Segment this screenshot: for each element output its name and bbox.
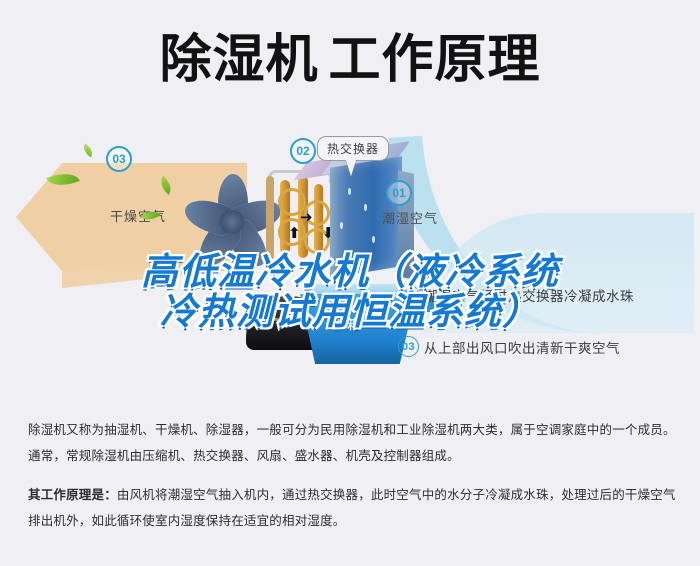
fan-hub-icon bbox=[220, 210, 244, 234]
refrigerant-coil-icon bbox=[262, 170, 334, 266]
heat-exchanger-callout: 热交换器 bbox=[317, 136, 389, 161]
step-badge-01: 01 bbox=[386, 180, 412, 206]
body-paragraph-2-text: 由风机将潮湿空气抽入机内，通过热交换器，此时空气中的水分子冷凝成水珠，处理过后的… bbox=[28, 488, 676, 528]
poster-title-band: 除湿机工作原理 bbox=[0, 0, 700, 120]
step-badge-02: 02 bbox=[290, 138, 316, 164]
step-note-03: 03 从上部出风口吹出清新干爽空气 bbox=[398, 336, 620, 357]
step-note-text-02: 潮湿空气经过热交换器冷凝成水珠 bbox=[424, 285, 634, 305]
step-note-text-03: 从上部出风口吹出清新干爽空气 bbox=[424, 337, 620, 357]
water-tank-label: 水箱 bbox=[332, 314, 362, 333]
body-paragraph-1: 除湿机又称为抽湿机、干燥机、除湿器，一般可分为民用除湿机和工业除湿机两大类，属于… bbox=[28, 418, 676, 469]
step-note-02: 02 潮湿空气经过热交换器冷凝成水珠 bbox=[398, 284, 634, 305]
step-note-badge-02: 02 bbox=[398, 284, 419, 305]
humid-air-label: 潮湿空气 bbox=[382, 208, 438, 227]
body-paragraph-2: 其工作原理是：由风机将潮湿空气抽入机内，通过热交换器，此时空气中的水分子冷凝成水… bbox=[28, 483, 676, 534]
title-part-1: 除湿机 bbox=[159, 30, 318, 90]
step-note-badge-03: 03 bbox=[398, 336, 419, 357]
flow-arrow-right-icon: ➜ bbox=[300, 210, 313, 225]
leaf-icon bbox=[81, 144, 96, 158]
title-part-2: 工作原理 bbox=[329, 30, 541, 90]
flow-arrow-up-icon: ⬆ bbox=[288, 226, 301, 241]
page-title: 除湿机工作原理 bbox=[159, 34, 540, 86]
dehumidifier-diagram: 干燥空气 ➜ ⬆ ⬇ bbox=[0, 118, 700, 398]
article-body: 除湿机又称为抽湿机、干燥机、除湿器，一般可分为民用除湿机和工业除湿机两大类，属于… bbox=[28, 418, 676, 549]
step-badge-03: 03 bbox=[106, 146, 132, 172]
poster-root: 除湿机工作原理 干燥空气 bbox=[0, 0, 700, 566]
body-paragraph-2-lead: 其工作原理是： bbox=[28, 488, 117, 502]
